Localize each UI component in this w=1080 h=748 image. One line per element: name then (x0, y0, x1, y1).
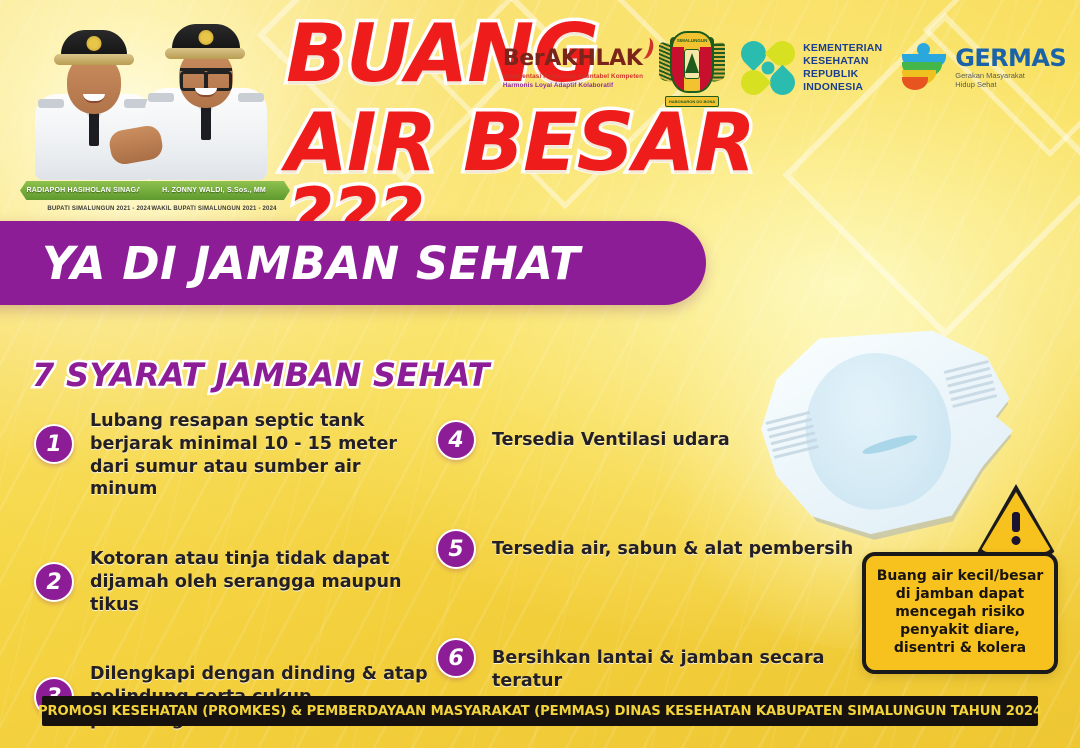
officials-photo-group: RADIAPOH HASIHOLAN SINAGA, SH, MH BUPATI… (14, 14, 290, 214)
epaulet-right-2 (238, 93, 264, 102)
berakhlak-tagline-line-2: Harmonis Loyal Adaptif Kolaboratif (503, 82, 643, 91)
item-number-badge: 2 (34, 562, 74, 602)
item-text: Tersedia air, sabun & alat pembersih (492, 538, 853, 561)
crest-motto-banner: HABONARON DO BONA (665, 96, 719, 107)
item-number-badge: 5 (436, 529, 476, 569)
item-text: Bersihkan lantai & jamban secara teratur (492, 647, 856, 693)
crest-arc-text: SIMALUNGUN (671, 31, 713, 47)
germas-title: GERMAS (955, 47, 1066, 70)
berakhlak-tagline-line-1: Berorientasi Pelayanan Akuntabel Kompete… (503, 73, 643, 82)
item-text: Kotoran atau tinja tidak dapat dijamah o… (90, 548, 434, 616)
list-item: 5 Tersedia air, sabun & alat pembersih (436, 529, 856, 569)
item-text: Tersedia Ventilasi udara (492, 429, 730, 452)
hat-emblem-1 (87, 36, 102, 51)
official-name-2: H. ZONNY WALDI, S.Sos., MM (162, 187, 266, 194)
official-figure-2 (142, 24, 270, 180)
berakhlak-tagline: Berorientasi Pelayanan Akuntabel Kompete… (503, 73, 643, 90)
poster-header: RADIAPOH HASIHOLAN SINAGA, SH, MH BUPATI… (0, 0, 1080, 216)
logo-row: BerAKHLAK Berorientasi Pelayanan Akuntab… (503, 22, 1066, 114)
germas-figure-icon (900, 42, 948, 94)
purple-banner: YA DI JAMBAN SEHAT (0, 221, 706, 305)
warning-triangle-icon (975, 484, 1057, 556)
section-title: 7 SYARAT JAMBAN SEHAT (32, 356, 490, 394)
berakhlak-logo: BerAKHLAK Berorientasi Pelayanan Akuntab… (503, 46, 643, 90)
germas-swoop-orange (902, 77, 928, 90)
kemenkes-clover-icon (741, 41, 795, 95)
berakhlak-wordmark: BerAKHLAK (503, 46, 643, 71)
peci-hat-2 (172, 24, 240, 54)
warning-text: Buang air kecil/besar di jamban dapat me… (876, 568, 1044, 658)
item-number-badge: 1 (34, 424, 74, 464)
poster-root: RADIAPOH HASIHOLAN SINAGA, SH, MH BUPATI… (0, 0, 1080, 748)
footer-text: PROMOSI KESEHATAN (PROMKES) & PEMBERDAYA… (38, 704, 1042, 719)
berakhlak-prefix: Ber (503, 46, 544, 71)
germas-logo: GERMAS Gerakan Masyarakat Hidup Sehat (900, 42, 1066, 94)
epaulet-left-2 (148, 93, 174, 102)
official-role-2: WAKIL BUPATI SIMALUNGUN 2021 - 2024 (138, 206, 290, 212)
peci-hat-1 (61, 30, 127, 60)
kemenkes-line-4: INDONESIA (803, 81, 882, 94)
crest-tree-icon (685, 53, 699, 73)
item-number-badge: 4 (436, 420, 476, 460)
list-item: 2 Kotoran atau tinja tidak dapat dijamah… (34, 548, 434, 616)
berakhlak-suffix: AKHLAK (544, 46, 642, 71)
simalungun-crest-logo: SIMALUNGUN HABONARON DO BONA (661, 29, 723, 107)
exclamation-bar (1012, 512, 1020, 532)
list-item: 6 Bersihkan lantai & jamban secara terat… (436, 638, 856, 693)
germas-wordmark: GERMAS Gerakan Masyarakat Hidup Sehat (955, 47, 1066, 90)
item-text: Lubang resapan septic tank berjarak mini… (90, 410, 434, 501)
germas-subtitle-line-2: Hidup Sehat (955, 80, 1066, 89)
official-name-ribbon-2: H. ZONNY WALDI, S.Sos., MM (138, 181, 290, 200)
eyeglasses-2 (180, 68, 232, 83)
kemenkes-logo: KEMENTERIAN KESEHATAN REPUBLIK INDONESIA (741, 41, 882, 95)
footer-bar: PROMOSI KESEHATAN (PROMKES) & PEMBERDAYA… (42, 696, 1038, 726)
item-number-badge: 6 (436, 638, 476, 678)
epaulet-left-1 (38, 99, 64, 108)
germas-subtitle: Gerakan Masyarakat Hidup Sehat (955, 71, 1066, 90)
berakhlak-swoosh-icon (636, 35, 656, 60)
list-item: 1 Lubang resapan septic tank berjarak mi… (34, 410, 434, 501)
hat-emblem-2 (199, 30, 214, 45)
exclamation-dot (1012, 536, 1021, 545)
kemenkes-line-1: KEMENTERIAN (803, 42, 882, 55)
kemenkes-line-2: KESEHATAN (803, 55, 882, 68)
banner-text: YA DI JAMBAN SEHAT (42, 237, 580, 290)
list-item: 4 Tersedia Ventilasi udara (436, 420, 856, 460)
warning-callout-box: Buang air kecil/besar di jamban dapat me… (862, 552, 1058, 674)
kemenkes-wordmark: KEMENTERIAN KESEHATAN REPUBLIK INDONESIA (803, 42, 882, 93)
germas-subtitle-line-1: Gerakan Masyarakat (955, 71, 1066, 80)
kemenkes-line-3: REPUBLIK (803, 68, 882, 81)
